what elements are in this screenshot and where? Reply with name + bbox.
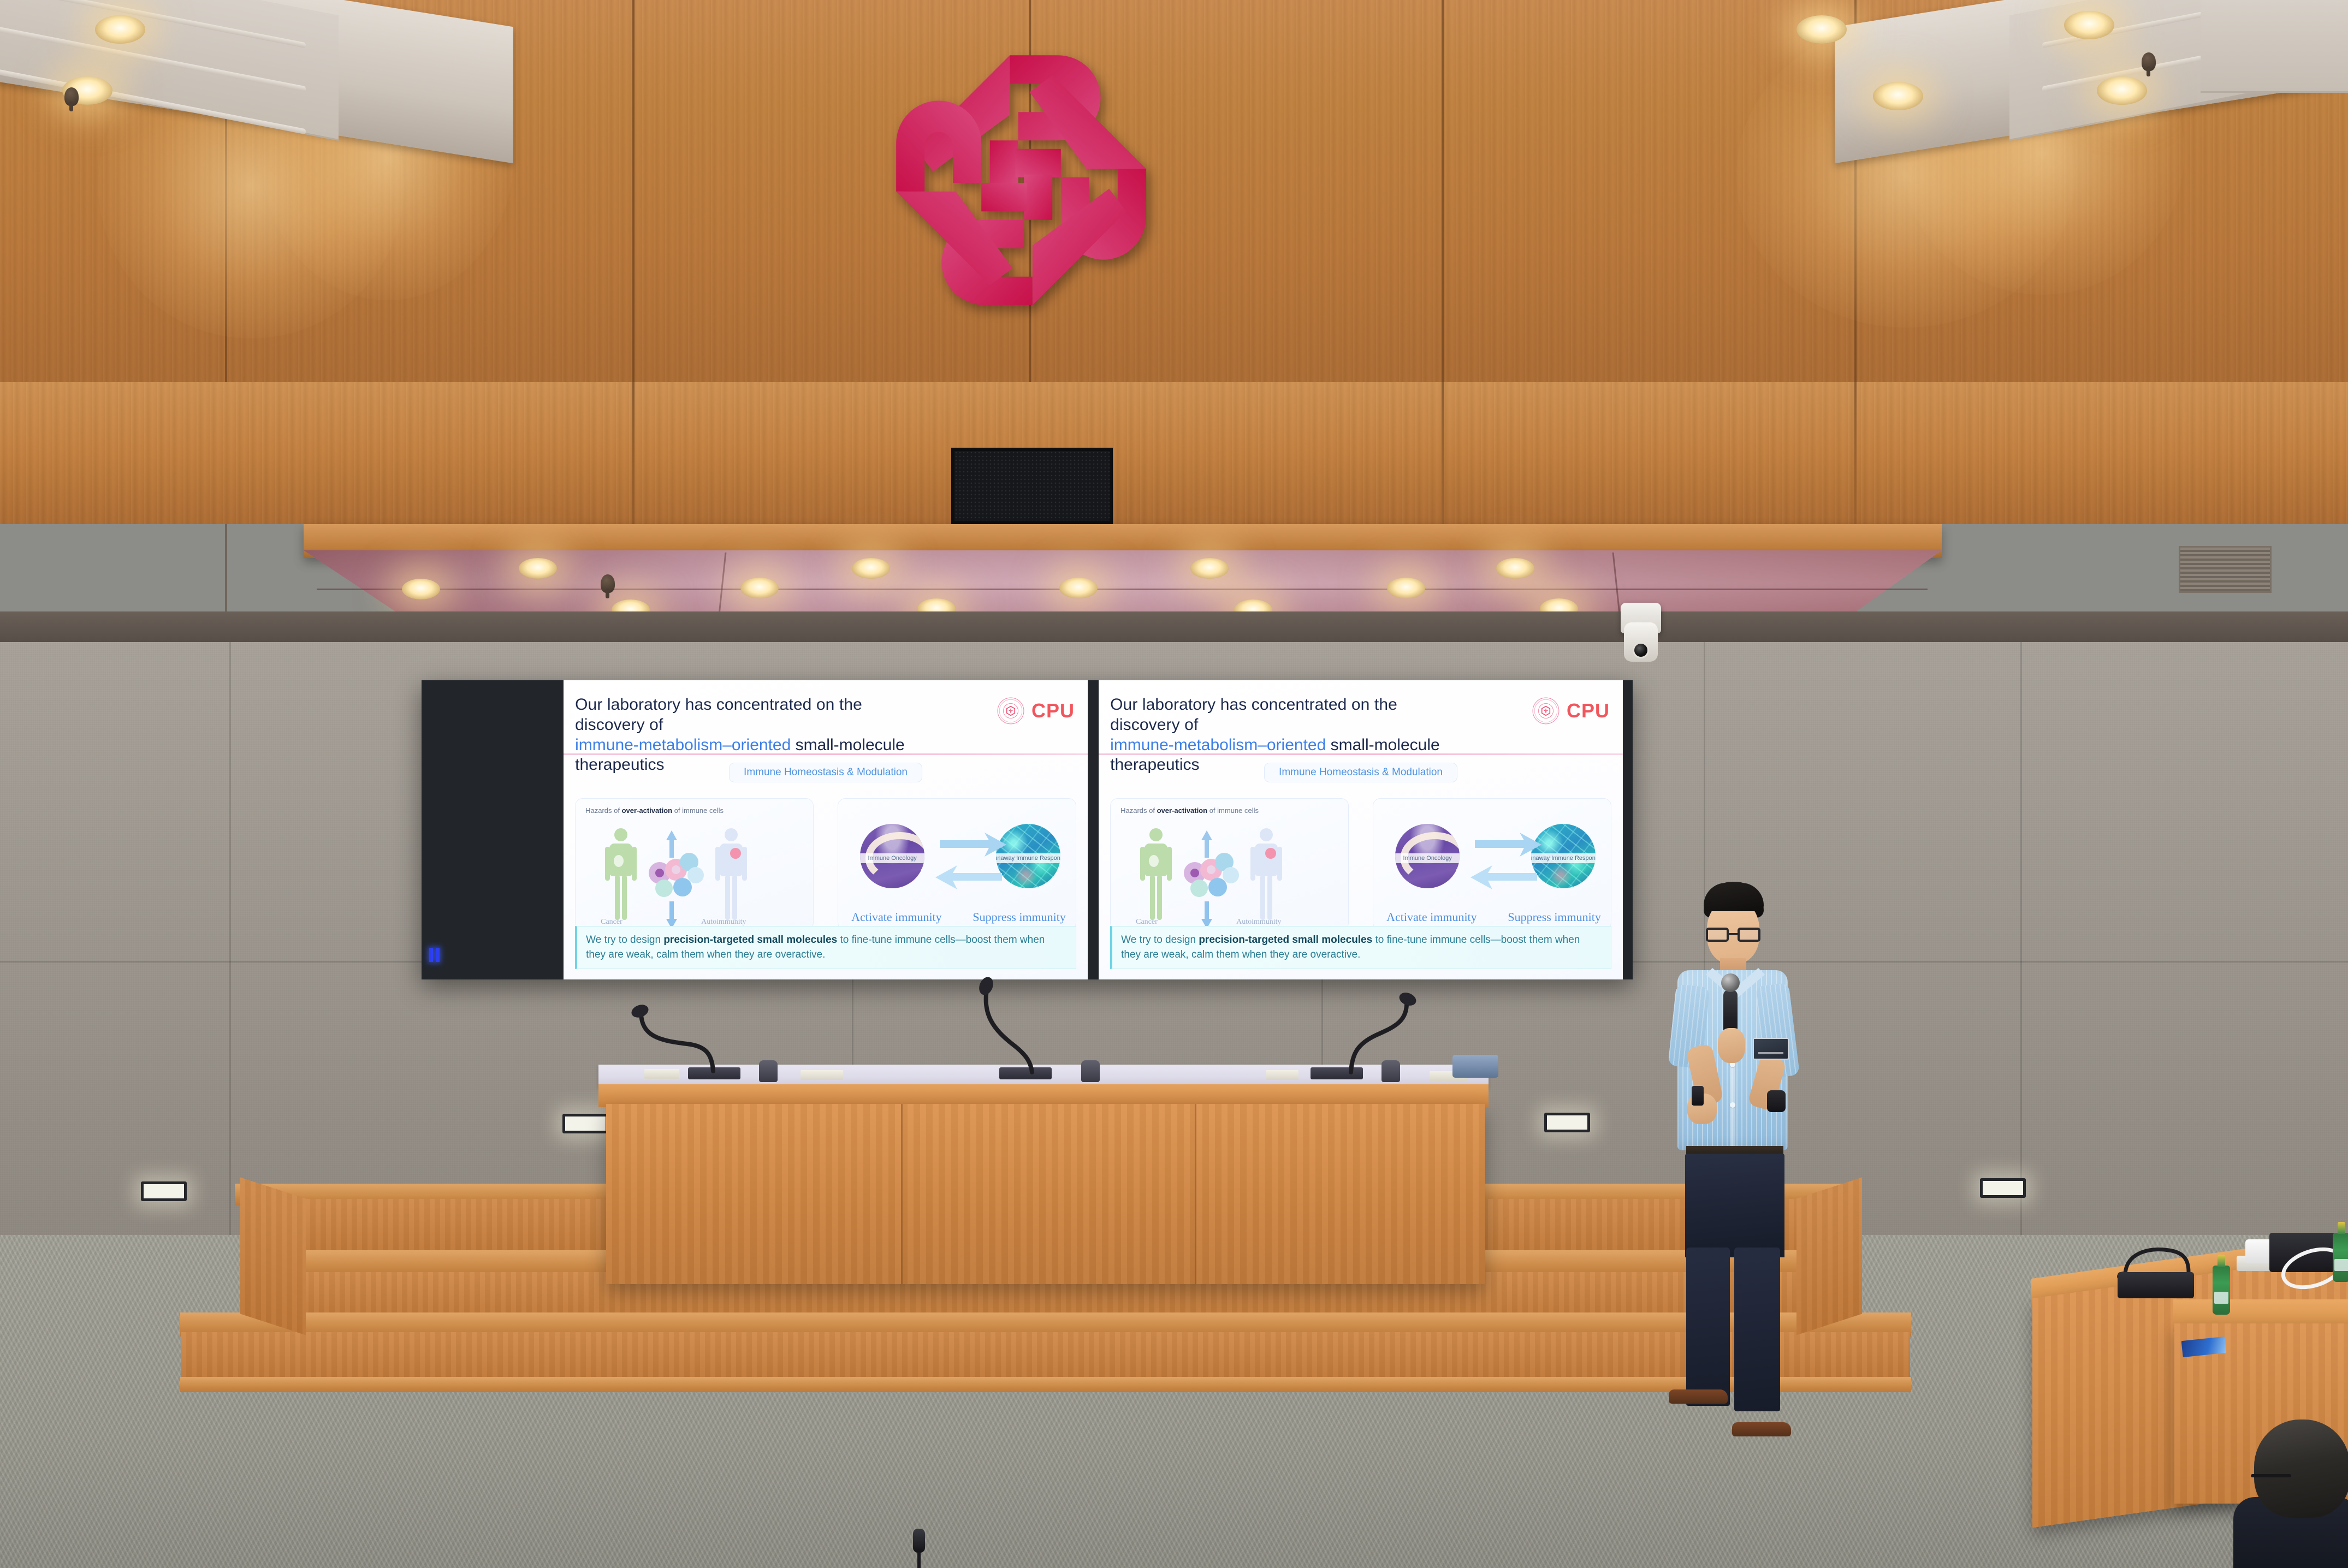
presenter-trousers	[1685, 1154, 1784, 1257]
cap-pre: Hazards of	[585, 806, 621, 815]
recessed-step-light	[562, 1114, 608, 1133]
cap-post: of immune cells	[1207, 806, 1259, 815]
lens-left	[1706, 928, 1729, 942]
circle-tag-runaway: Runaway Immune Response	[1531, 853, 1596, 863]
wall-seam	[229, 611, 231, 1245]
panel-modulation: Immune Oncology Runaway Immune Response …	[838, 798, 1076, 930]
label-activate-immunity: Activate immunity	[1386, 910, 1477, 924]
presentation-clicker[interactable]	[1692, 1086, 1704, 1106]
panel-hazards: Hazards of over-activation of immune cel…	[575, 798, 814, 930]
label-suppress-immunity: Suppress immunity	[1508, 910, 1601, 924]
canopy-seam	[317, 589, 1928, 590]
water-bottle	[2213, 1266, 2230, 1315]
label-autoimmunity: Autoimmunity	[1236, 918, 1281, 926]
cpu-seal-icon	[997, 697, 1025, 725]
sprinkler-head	[64, 87, 79, 106]
rostrum-panel-divider	[901, 1104, 903, 1284]
immune-oncology-circle: Immune Oncology	[860, 824, 924, 888]
ceiling-downlight	[2064, 11, 2114, 39]
mic-pod[interactable]	[1081, 1060, 1100, 1082]
human-figure-autoimmunity-icon	[1249, 827, 1283, 923]
section-chip: Immune Homeostasis & Modulation	[729, 763, 922, 782]
lens-right	[1738, 928, 1760, 942]
glasses-bridge	[1729, 933, 1738, 935]
note-pre: We try to design	[1121, 934, 1199, 946]
label-activate-immunity: Activate immunity	[851, 910, 942, 924]
wood-seam	[1442, 382, 1444, 524]
water-bottle	[2333, 1233, 2348, 1282]
arrow-down-icon	[1200, 900, 1213, 930]
canopy-downlight	[402, 579, 440, 599]
gooseneck-mic-icon[interactable]	[928, 977, 1054, 1074]
recessed-step-light	[1544, 1113, 1590, 1132]
wood-seam	[1854, 382, 1857, 524]
arrow-down-icon	[665, 900, 678, 930]
circle-tag-runaway: Runaway Immune Response	[996, 853, 1060, 863]
wall-dark-band	[0, 611, 2348, 642]
mic-pod[interactable]	[759, 1060, 778, 1082]
arrow-up-icon	[665, 829, 678, 859]
immune-oncology-circle: Immune Oncology	[1395, 824, 1460, 888]
ceiling-downlight	[2097, 76, 2147, 105]
canopy-downlight	[1387, 578, 1425, 598]
canopy-downlight	[740, 578, 779, 598]
slide-panel-left: Our laboratory has concentrated on the d…	[564, 680, 1088, 979]
presenter-hand-left	[1718, 1028, 1745, 1063]
label-cancer: Cancer	[601, 918, 622, 926]
floor-microphone[interactable]	[913, 1529, 925, 1553]
camera-lens-icon	[1633, 642, 1649, 658]
rostrum-panel-divider	[1195, 1104, 1196, 1284]
cpu-seal-icon	[1532, 697, 1560, 725]
ceiling-downlight	[1796, 15, 1847, 44]
led-display-wall: Our laboratory has concentrated on the d…	[422, 680, 1633, 979]
presenter-shoe-right	[1732, 1422, 1791, 1436]
display-power-led	[429, 948, 433, 962]
label-suppress-immunity: Suppress immunity	[973, 910, 1066, 924]
canopy-downlight	[1190, 558, 1229, 579]
recessed-step-light	[1980, 1178, 2026, 1198]
wood-header-band	[0, 382, 2348, 524]
slide-title-line1: Our laboratory has concentrated on the d…	[575, 695, 910, 735]
cpu-brand-lockup: CPU	[1532, 697, 1610, 725]
ceiling-panel-far-right	[2201, 0, 2348, 93]
desk-nameplate	[1266, 1070, 1298, 1080]
side-desk-mic-base[interactable]	[2118, 1272, 2194, 1298]
cap-bold: over-activation	[1157, 806, 1207, 815]
cap-pre: Hazards of	[1120, 806, 1157, 815]
label-cancer: Cancer	[1136, 918, 1158, 926]
presenter-hair-top	[1704, 883, 1764, 911]
shirt-button	[1730, 1102, 1735, 1108]
cap-bold: over-activation	[622, 806, 672, 815]
presenter-shoe-left	[1669, 1389, 1728, 1404]
note-pre: We try to design	[586, 934, 663, 946]
recessed-step-light	[141, 1181, 187, 1201]
cap-post: of immune cells	[672, 806, 724, 815]
slide-panel-right: Our laboratory has concentrated on the d…	[1099, 680, 1623, 979]
cpu-wordmark: CPU	[1567, 699, 1610, 722]
audience-eyeglasses-icon	[2251, 1474, 2291, 1477]
panel-hazards: Hazards of over-activation of immune cel…	[1110, 798, 1349, 930]
wall-vent	[2179, 546, 2272, 593]
slide-title-line1: Our laboratory has concentrated on the d…	[1110, 695, 1445, 735]
sprinkler-head	[601, 574, 615, 593]
slide-title-accent: immune-metabolism–oriented	[1110, 736, 1326, 754]
canopy-downlight	[519, 558, 557, 579]
note-bold: precision-targeted small molecules	[1199, 934, 1372, 946]
gooseneck-mic-icon[interactable]	[1300, 993, 1425, 1074]
wall-seam	[2020, 611, 2022, 1245]
circle-tag-oncology: Immune Oncology	[1395, 853, 1460, 863]
canopy-downlight	[852, 558, 890, 579]
ceiling-downlight	[1873, 82, 1923, 110]
cpu-wordmark: CPU	[1031, 699, 1075, 722]
rostrum-body	[606, 1104, 1485, 1284]
canopy-downlight	[1496, 558, 1534, 579]
note-bold: precision-targeted small molecules	[663, 934, 837, 946]
human-figure-cancer-icon	[1139, 827, 1173, 923]
sprinkler-head	[2142, 52, 2156, 71]
presenter	[1627, 882, 1835, 1444]
stage-return-left	[240, 1178, 306, 1335]
name-badge	[1753, 1038, 1789, 1060]
canopy-downlight	[1059, 578, 1098, 598]
slide-title-accent: immune-metabolism–oriented	[575, 736, 791, 754]
human-figure-autoimmunity-icon	[714, 827, 748, 923]
lecture-hall-photo: Our laboratory has concentrated on the d…	[0, 0, 2348, 1568]
section-chip: Immune Homeostasis & Modulation	[1264, 763, 1457, 782]
caption-over-activation: Hazards of over-activation of immune cel…	[585, 806, 724, 815]
slide-bottom-note: We try to design precision-targeted smal…	[1110, 926, 1611, 969]
label-autoimmunity: Autoimmunity	[701, 918, 746, 926]
gooseneck-mic-icon[interactable]	[627, 1005, 725, 1076]
slide-bottom-note: We try to design precision-targeted smal…	[575, 926, 1076, 969]
smartwatch	[1767, 1090, 1786, 1112]
eyeglasses-icon	[1706, 928, 1760, 942]
audience-member-head	[2254, 1419, 2348, 1518]
cpu-brand-lockup: CPU	[997, 697, 1075, 725]
desk-nameplate	[801, 1070, 843, 1080]
presenter-leg-left	[1686, 1248, 1730, 1406]
ceiling-speaker-grille	[951, 448, 1113, 524]
power-adapter	[2245, 1239, 2272, 1263]
desk-control-pad[interactable]	[1452, 1055, 1498, 1078]
wood-seam	[632, 382, 635, 524]
presenter-leg-right	[1734, 1248, 1780, 1411]
caption-over-activation: Hazards of over-activation of immune cel…	[1120, 806, 1259, 815]
ceiling-downlight	[95, 15, 145, 44]
display-power-led	[436, 948, 440, 962]
polyu-logo	[879, 38, 1163, 322]
human-figure-cancer-icon	[604, 827, 638, 923]
panel-modulation: Immune Oncology Runaway Immune Response …	[1373, 798, 1611, 930]
arrow-up-icon	[1200, 829, 1213, 859]
circle-tag-oncology: Immune Oncology	[860, 853, 924, 863]
